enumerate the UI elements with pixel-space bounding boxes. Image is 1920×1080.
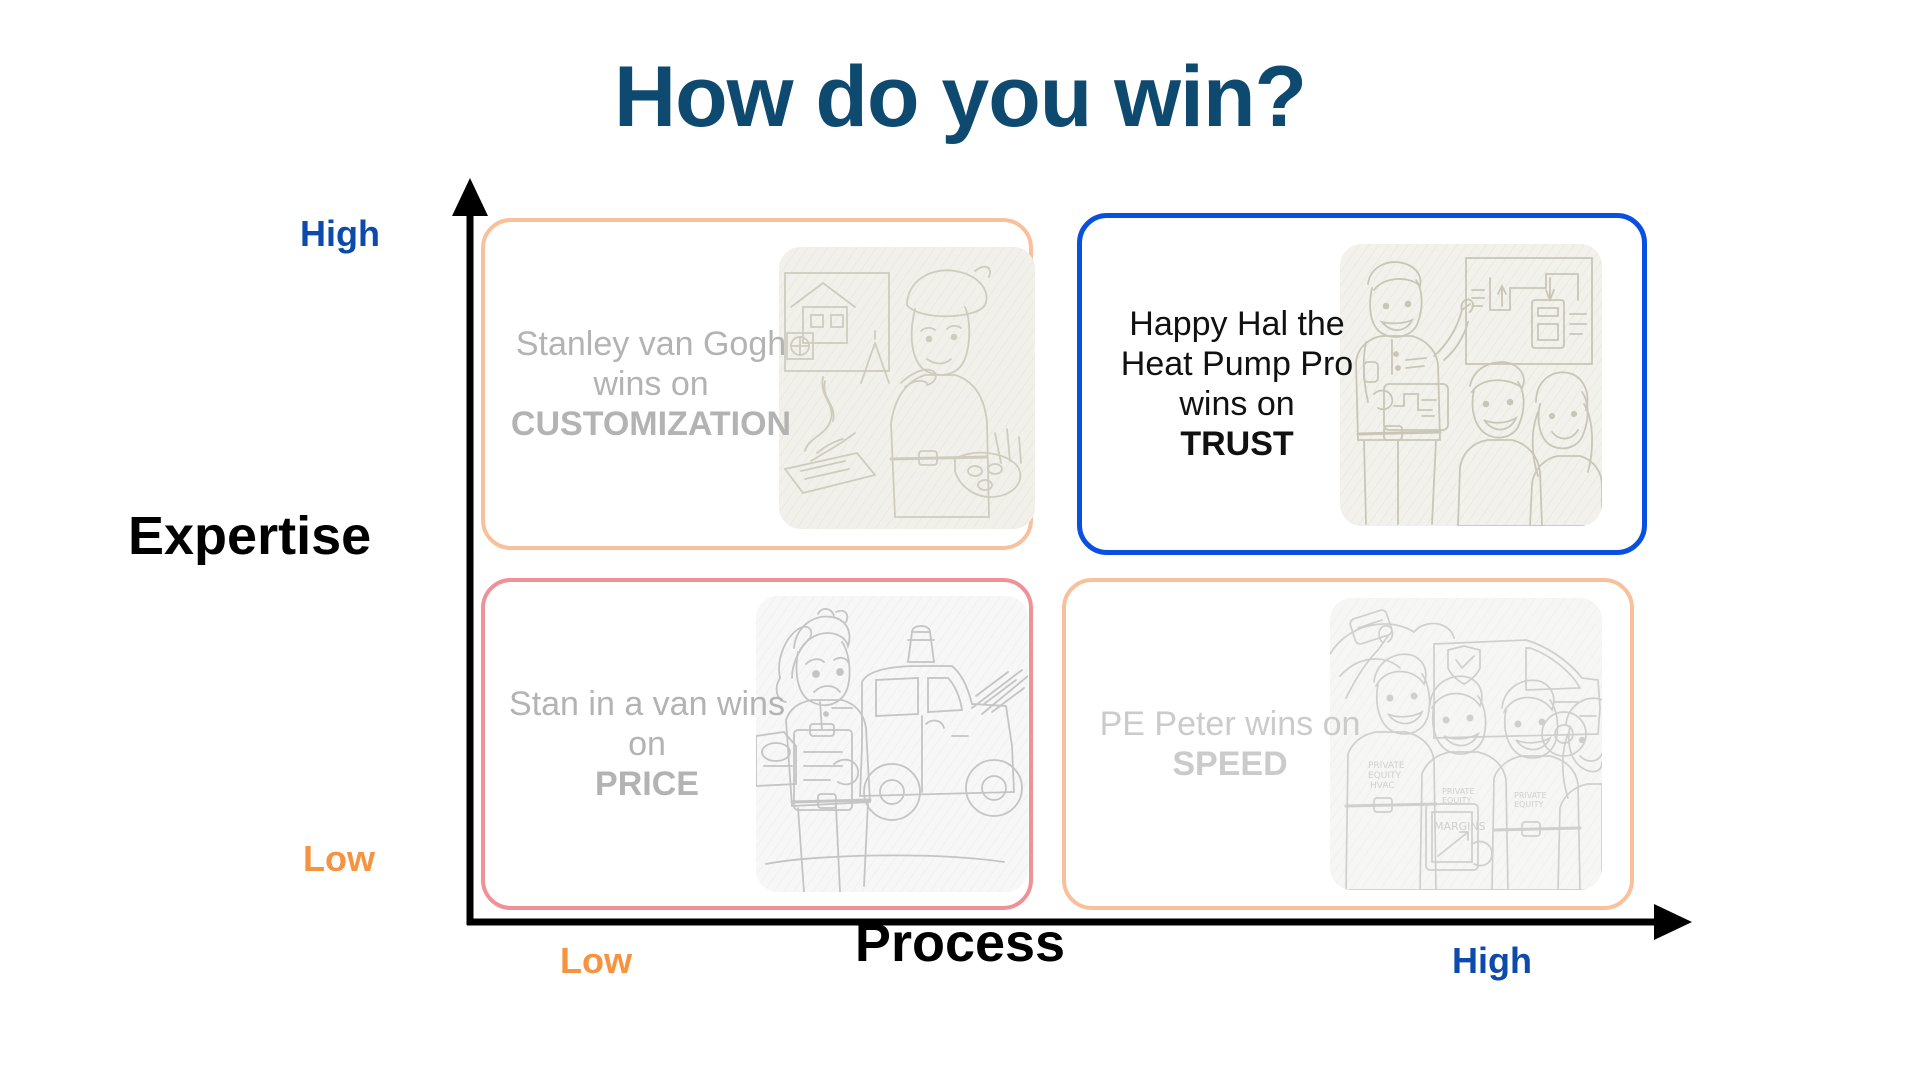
quadrant-win-on: CUSTOMIZATION [491,404,811,444]
quadrant-line1: PE Peter [1100,705,1236,743]
x-axis-label: Process [0,912,1920,974]
y-axis-label: Expertise [128,505,371,567]
quadrant-win-on: PRICE [497,764,797,804]
y-axis-high-tick: High [300,213,380,255]
quadrant-win-on: SPEED [1080,744,1380,784]
page-title: How do you win? [0,48,1920,147]
quadrant-line3: wins on [1179,385,1294,423]
illustration-technician-with-couple [1340,244,1602,526]
quadrant-line1: Stan in a van [509,685,707,723]
quadrant-line1: Happy Hal the [1129,305,1344,343]
svg-text:PRIVATE: PRIVATE [1442,787,1475,796]
quadrant-text-bottom-left: Stan in a van wins on PRICE [497,684,797,804]
x-axis-high-tick: High [1452,940,1532,982]
svg-text:PRIVATE: PRIVATE [1514,791,1547,800]
illustration-artist-architect [779,247,1035,529]
quadrant-text-bottom-right: PE Peter wins on SPEED [1080,704,1380,784]
svg-text:EQUITY: EQUITY [1514,800,1543,809]
quadrant-line2: Heat Pump Pro [1121,345,1353,383]
quadrant-line2: wins on [593,365,708,403]
svg-text:MARGINS: MARGINS [1434,820,1486,833]
quadrant-line1: Stanley van Gogh [516,325,786,363]
y-axis-low-tick: Low [303,838,375,880]
quadrant-text-top-left: Stanley van Gogh wins on CUSTOMIZATION [491,324,811,444]
x-axis-low-tick: Low [560,940,632,982]
slide-canvas: How do you win? Expertise High Low Proce… [0,0,1920,1080]
quadrant-win-on: TRUST [1096,424,1378,464]
quadrant-text-top-right: Happy Hal the Heat Pump Pro wins on TRUS… [1096,304,1378,464]
quadrant-line2: wins on [1245,705,1360,743]
